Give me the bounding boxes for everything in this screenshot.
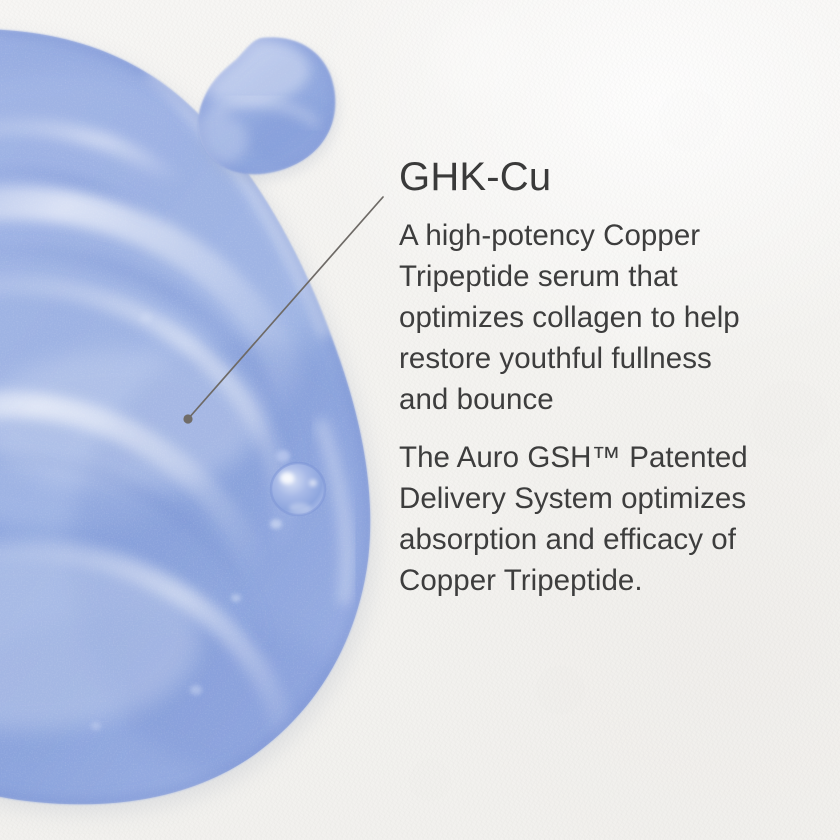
leader-dot	[183, 414, 192, 423]
benefit-line-4: restore youthful fullness	[399, 338, 819, 379]
benefit-paragraph: A high-potency Copper Tripeptide serum t…	[399, 215, 819, 420]
benefit-line-2: Tripeptide serum that	[399, 256, 819, 297]
text-column: GHK-Cu A high-potency Copper Tripeptide …	[399, 152, 819, 601]
delivery-system-paragraph: The Auro GSH™ Patented Delivery System o…	[399, 437, 819, 601]
delivery-line-1: The Auro GSH™ Patented	[399, 437, 819, 478]
delivery-line-2: Delivery System optimizes	[399, 478, 819, 519]
benefit-line-5: and bounce	[399, 379, 819, 420]
benefit-line-1: A high-potency Copper	[399, 215, 819, 256]
delivery-line-3: absorption and efficacy of	[399, 519, 819, 560]
benefit-line-3: optimizes collagen to help	[399, 297, 819, 338]
ingredient-callout-image: GHK-Cu A high-potency Copper Tripeptide …	[0, 0, 840, 840]
delivery-line-4: Copper Tripeptide.	[399, 560, 819, 601]
page-title: GHK-Cu	[399, 152, 819, 202]
leader-line	[188, 197, 383, 419]
